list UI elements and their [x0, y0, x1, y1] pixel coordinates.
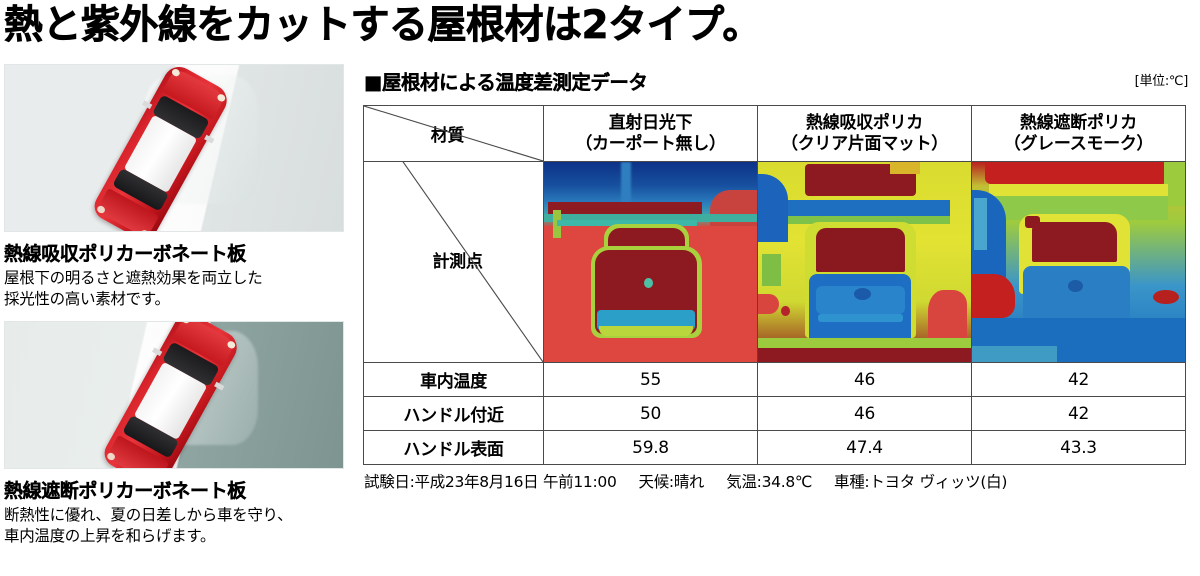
cell-handle-surface-heat-blocking: 43.3	[972, 431, 1186, 465]
table-row-thermal-images: 計測点	[364, 162, 1186, 363]
footnote-date: 試験日:平成23年8月16日 午前11:00	[364, 473, 617, 491]
column-header-line2: （クリア片面マット）	[758, 134, 971, 155]
column-header-line2: （グレースモーク）	[972, 134, 1185, 155]
footnote-vehicle: 車種:トヨタ ヴィッツ(白)	[834, 473, 1007, 491]
corner-label-material: 材質	[431, 126, 464, 146]
cell-near-handle-heat-absorbing: 46	[758, 397, 972, 431]
product-description-2: 断熱性に優れ、夏の日差しから車を守り、 車内温度の上昇を和らげます。	[4, 505, 348, 546]
row-label-handle-surface: ハンドル表面	[364, 431, 544, 465]
footnote-air-temp: 気温:34.8℃	[726, 473, 812, 491]
product-description-1: 屋根下の明るさと遮熱効果を両立した 採光性の高い素材です。	[4, 268, 348, 309]
cell-cabin-temp-heat-absorbing: 46	[758, 363, 972, 397]
unit-note: [単位:℃]	[1135, 70, 1188, 89]
column-header-line2: （カーポート無し）	[544, 134, 757, 155]
corner-label-measure-point: 計測点	[432, 252, 482, 272]
table-row: 車内温度 55 46 42	[364, 363, 1186, 397]
row-label-cabin-temp: 車内温度	[364, 363, 544, 397]
row-label-near-handle: ハンドル付近	[364, 397, 544, 431]
bullet-square-icon: ■	[364, 71, 382, 94]
table-row: ハンドル付近 50 46 42	[364, 397, 1186, 431]
corner-cell-material: 材質	[364, 106, 544, 162]
page-title: 熱と紫外線をカットする屋根材は2タイプ。	[4, 6, 761, 47]
thermal-image-heat-blocking	[972, 162, 1186, 363]
test-conditions-footnote: 試験日:平成23年8月16日 午前11:00天候:晴れ気温:34.8℃車種:トヨ…	[364, 470, 1029, 492]
cell-handle-surface-direct-sun: 59.8	[544, 431, 758, 465]
table-row-header-top: 材質 直射日光下 （カーポート無し） 熱線吸収ポリカ （クリア片面マット） 熱線…	[364, 106, 1186, 162]
column-header-line1: 直射日光下	[544, 113, 757, 134]
section-heading-text: 屋根材による温度差測定データ	[382, 71, 647, 94]
product-photo-heat-blocking	[4, 321, 344, 469]
thermal-image-heat-absorbing	[758, 162, 972, 363]
product-photo-heat-absorbing	[4, 64, 344, 232]
corner-cell-measure-point: 計測点	[364, 162, 544, 363]
column-header-line1: 熱線吸収ポリカ	[758, 113, 971, 134]
section-heading: ■屋根材による温度差測定データ	[364, 66, 647, 95]
column-header-heat-blocking: 熱線遮断ポリカ （グレースモーク）	[972, 106, 1186, 162]
footnote-weather: 天候:晴れ	[639, 473, 705, 491]
cell-near-handle-heat-blocking: 42	[972, 397, 1186, 431]
column-header-line1: 熱線遮断ポリカ	[972, 113, 1185, 134]
cell-cabin-temp-direct-sun: 55	[544, 363, 758, 397]
cell-near-handle-direct-sun: 50	[544, 397, 758, 431]
column-header-heat-absorbing: 熱線吸収ポリカ （クリア片面マット）	[758, 106, 972, 162]
temperature-comparison-table: 材質 直射日光下 （カーポート無し） 熱線吸収ポリカ （クリア片面マット） 熱線…	[363, 105, 1186, 465]
page-root: 熱と紫外線をカットする屋根材は2タイプ。 熱線吸収ポリカーボネート板 屋根下	[0, 0, 1200, 576]
cell-handle-surface-heat-absorbing: 47.4	[758, 431, 972, 465]
product-title-2: 熱線遮断ポリカーボネート板	[4, 476, 348, 503]
product-column: 熱線吸収ポリカーボネート板 屋根下の明るさと遮熱効果を両立した 採光性の高い素材…	[4, 64, 348, 546]
product-title-1: 熱線吸収ポリカーボネート板	[4, 239, 348, 266]
thermal-image-direct-sun	[544, 162, 758, 363]
table-row: ハンドル表面 59.8 47.4 43.3	[364, 431, 1186, 465]
cell-cabin-temp-heat-blocking: 42	[972, 363, 1186, 397]
column-header-direct-sun: 直射日光下 （カーポート無し）	[544, 106, 758, 162]
